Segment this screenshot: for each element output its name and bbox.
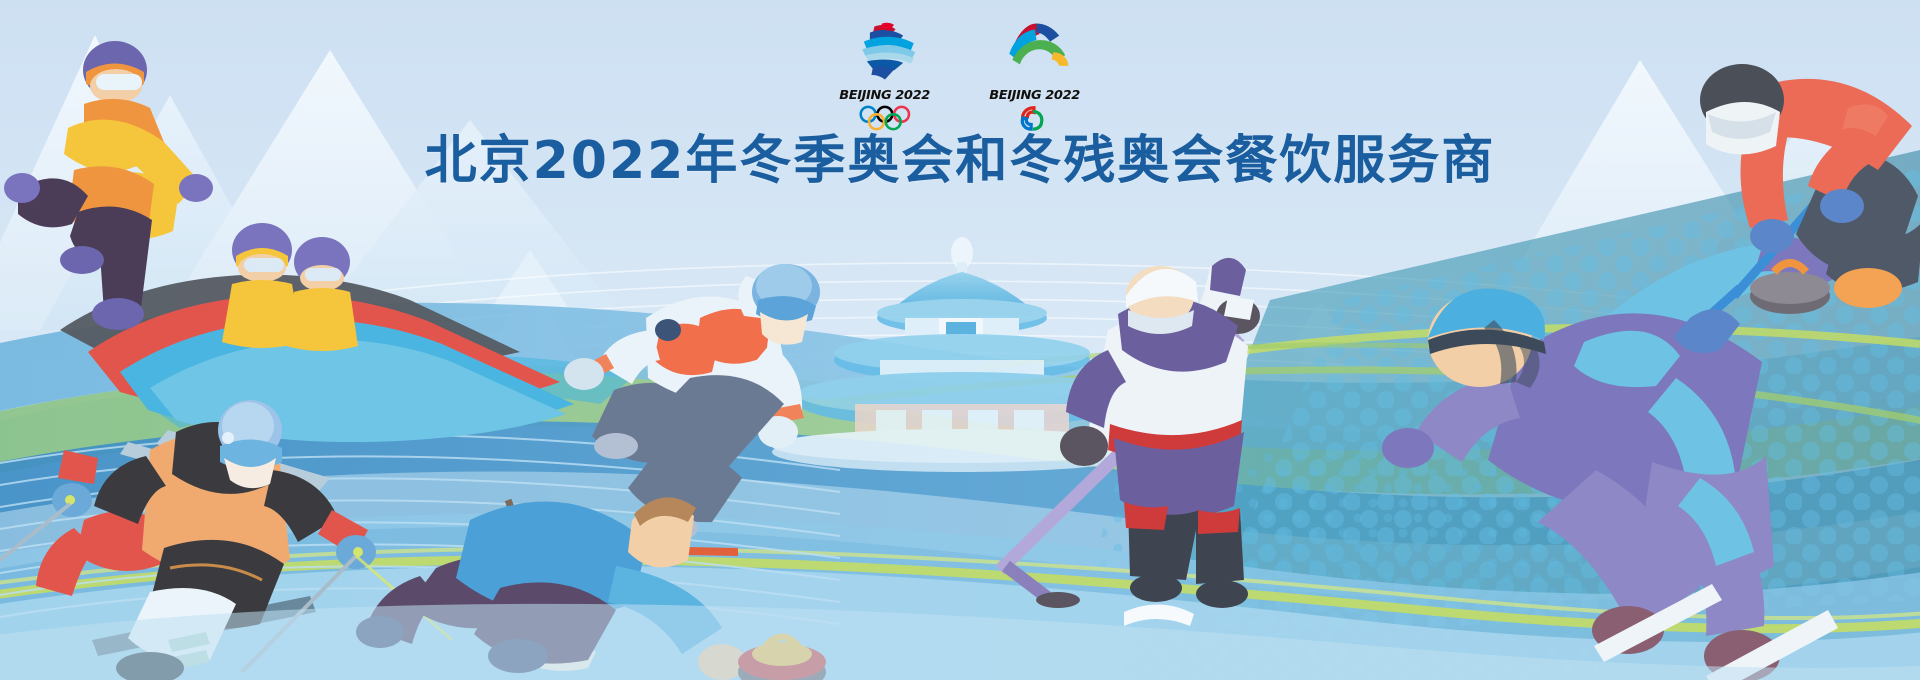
glove — [1750, 219, 1794, 253]
glove — [1820, 189, 1864, 223]
beijing-2022-winter-olympics-emblem — [846, 22, 924, 84]
page-title: 北京2022年冬季奥会和冬残奥会餐饮服务商 — [0, 118, 1920, 193]
beijing-2022-winter-paralympics-emblem — [996, 22, 1074, 84]
hand — [564, 358, 604, 390]
boot — [60, 246, 104, 274]
boot — [92, 298, 144, 330]
skate-boot — [1196, 580, 1248, 608]
glove — [1060, 426, 1108, 466]
olympic-logo-block[interactable]: BEIJING 2022 — [831, 22, 939, 131]
skate-boot — [1130, 574, 1182, 602]
olympic-wordmark: BEIJING 2022 — [840, 87, 931, 102]
skate-boot — [594, 433, 638, 459]
paralympic-logo-block[interactable]: BEIJING 2022 — [981, 22, 1089, 131]
beijing-2022-catering-banner: BEIJING 2022 BEIJING 2022 — [0, 0, 1920, 680]
paralympic-wordmark: BEIJING 2022 — [990, 87, 1081, 102]
hockey-puck — [1036, 592, 1080, 608]
glove — [1382, 428, 1434, 468]
bobsleigh-crew — [222, 223, 358, 351]
shoe — [1834, 268, 1902, 308]
emblem-lockup: BEIJING 2022 BEIJING 2022 — [0, 22, 1920, 131]
